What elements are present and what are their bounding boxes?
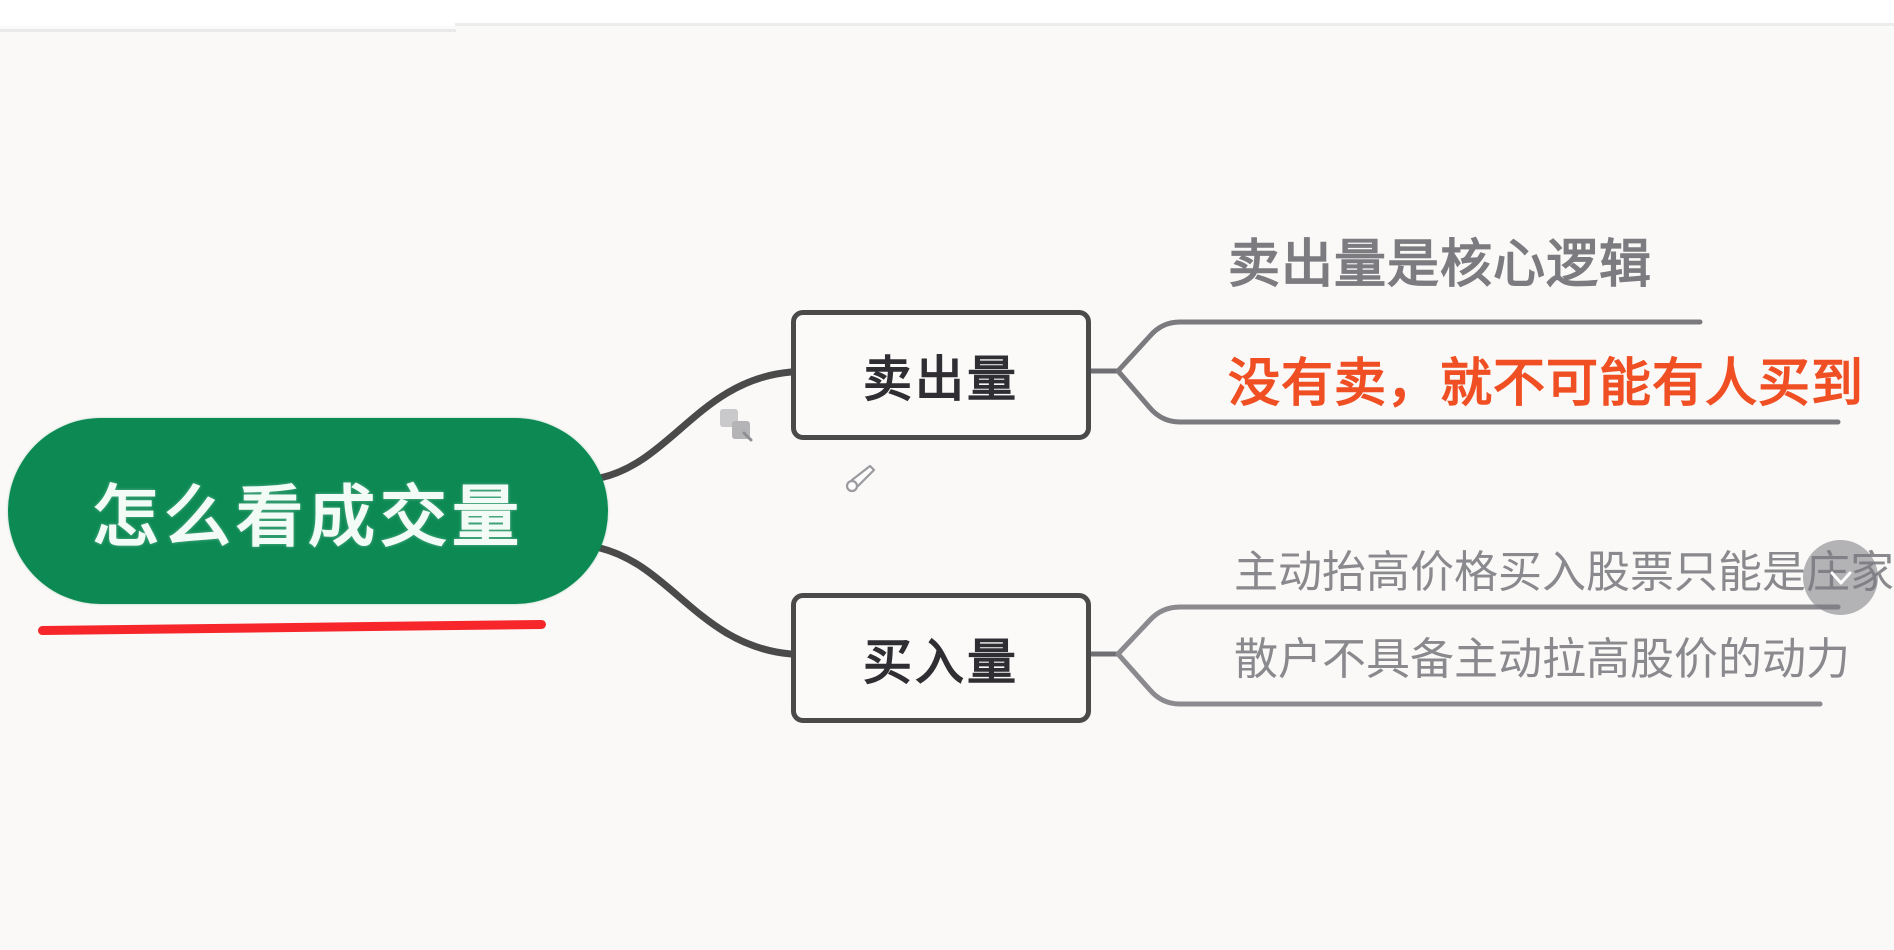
pen-cursor-icon bbox=[840, 458, 880, 498]
root-node-how-to-read-volume[interactable]: 怎么看成交量 bbox=[8, 418, 608, 604]
leaf-node-retail-lacks-motivation[interactable]: 散户不具备主动拉高股价的动力 bbox=[1234, 637, 1850, 683]
chevron-down-icon bbox=[1821, 558, 1861, 598]
leaf-node-sell-core-logic[interactable]: 卖出量是核心逻辑 bbox=[1228, 238, 1652, 293]
topic-box-buy-volume-label: 买入量 bbox=[863, 623, 1019, 694]
top-edge-line-right bbox=[455, 23, 1894, 26]
leaf-node-only-institutions-raise-price-text: 主动抬高价格买入股票只能是庄家 bbox=[1234, 550, 1894, 596]
mindmap-screen: 怎么看成交量 卖出量 买入量 卖出量是核心逻辑 没有卖，就不可能有人买到 主动抬… bbox=[0, 0, 1894, 950]
collapse-toggle-button[interactable] bbox=[1803, 540, 1878, 615]
topic-box-buy-volume[interactable]: 买入量 bbox=[791, 593, 1091, 723]
leaf-node-no-sell-no-buy-text: 没有卖，就不可能有人买到 bbox=[1228, 357, 1864, 412]
topic-box-sell-volume[interactable]: 卖出量 bbox=[791, 310, 1091, 440]
leaf-node-sell-core-logic-text: 卖出量是核心逻辑 bbox=[1228, 238, 1652, 293]
topic-box-sell-volume-label: 卖出量 bbox=[863, 340, 1019, 411]
leaf-node-only-institutions-raise-price[interactable]: 主动抬高价格买入股票只能是庄家 bbox=[1234, 550, 1894, 596]
leaf-node-retail-lacks-motivation-text: 散户不具备主动拉高股价的动力 bbox=[1234, 637, 1850, 683]
root-node-label: 怎么看成交量 bbox=[92, 463, 524, 560]
drag-ghost-icon bbox=[718, 405, 764, 451]
leaf-node-no-sell-no-buy[interactable]: 没有卖，就不可能有人买到 bbox=[1228, 357, 1864, 412]
